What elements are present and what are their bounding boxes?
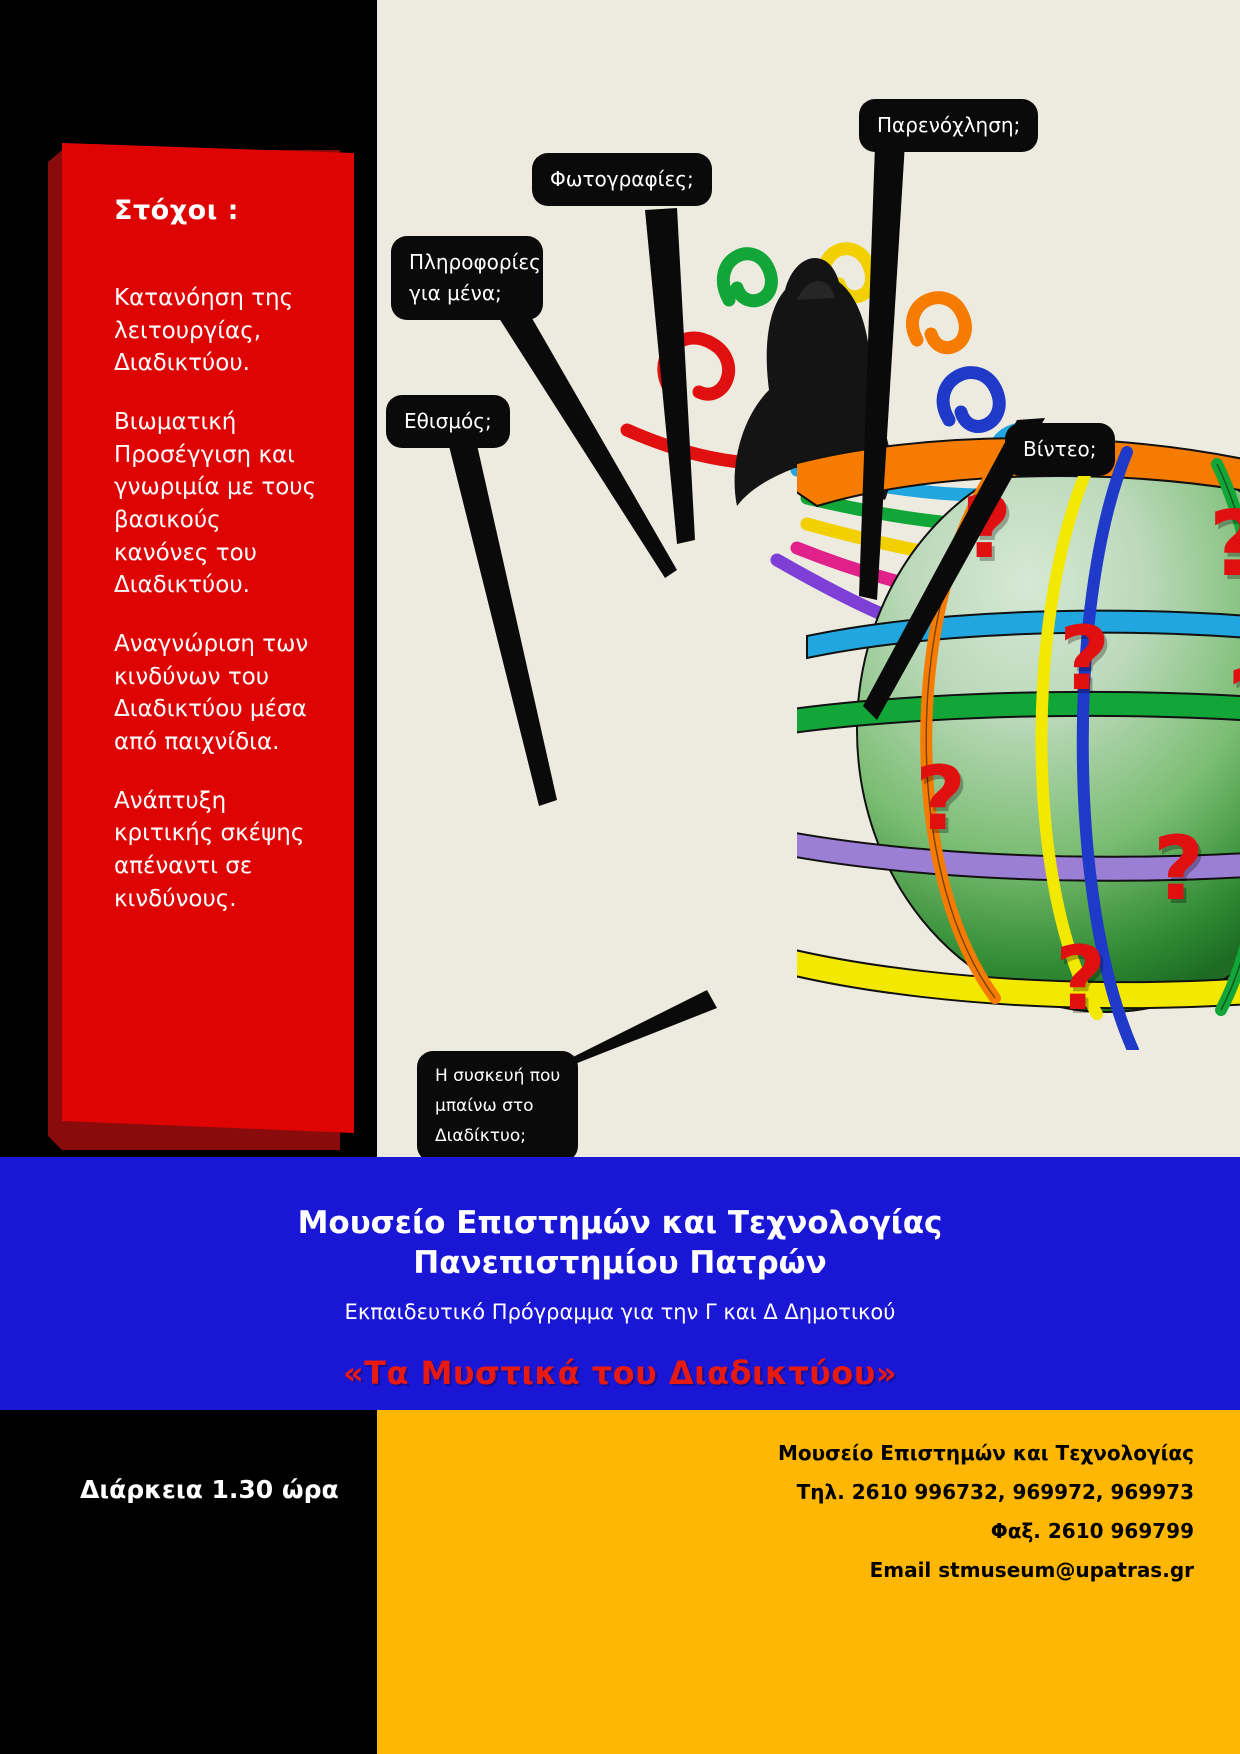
goal-item-2: Βιωματική Προσέγγιση και γνωριμία με του… [114, 406, 320, 602]
artwork-panel: ? ? ? ? ? ? ? [377, 0, 1240, 1157]
bubble-stems [377, 0, 1240, 1157]
goals-panel-title: Στόχοι : [114, 195, 320, 226]
poster-root: ? ? ? ? ? ? ? [0, 0, 1240, 1754]
goal-item-3: Αναγνώριση των κινδύνων του Διαδικτύου μ… [114, 628, 320, 759]
goal-item-1: Κατανόηση της λειτουργίας, Διαδικτύου. [114, 282, 320, 380]
museum-name-line2: Πανεπιστημίου Πατρών [0, 1243, 1240, 1283]
program-title: «Τα Μυστικά του Διαδικτύου» [0, 1354, 1240, 1392]
contact-phone: Τηλ. 2610 996732, 969972, 969973 [377, 1473, 1194, 1512]
bubble-device[interactable]: Η συσκευή που μπαίνω στο Διαδίκτυο; [417, 1051, 578, 1157]
blue-footer-band: Μουσείο Επιστημών και Τεχνολογίας Πανεπι… [0, 1157, 1240, 1410]
museum-name-line1: Μουσείο Επιστημών και Τεχνολογίας [0, 1203, 1240, 1243]
bubble-harassment[interactable]: Παρενόχληση; [859, 99, 1038, 152]
goal-item-4: Ανάπτυξη κριτικής σκέψης απέναντι σε κιν… [114, 785, 320, 916]
contact-fax: Φαξ. 2610 969799 [377, 1512, 1194, 1551]
goals-panel: Στόχοι : Κατανόηση της λειτουργίας, Διαδ… [62, 143, 354, 1133]
bubble-photos[interactable]: Φωτογραφίες; [532, 153, 712, 206]
bubble-addiction[interactable]: Εθισμός; [386, 395, 510, 448]
duration-label: Διάρκεια 1.30 ώρα [80, 1475, 339, 1504]
contact-box: Μουσείο Επιστημών και Τεχνολογίας Τηλ. 2… [377, 1410, 1240, 1754]
contact-name: Μουσείο Επιστημών και Τεχνολογίας [377, 1434, 1194, 1473]
bubble-video[interactable]: Βίντεο; [1005, 423, 1115, 476]
contact-email[interactable]: Email stmuseum@upatras.gr [377, 1551, 1194, 1590]
program-subtitle: Εκπαιδευτικό Πρόγραμμα για την Γ και Δ Δ… [0, 1300, 1240, 1324]
bubble-information-about-me[interactable]: Πληροφορίες για μένα; [391, 236, 543, 320]
